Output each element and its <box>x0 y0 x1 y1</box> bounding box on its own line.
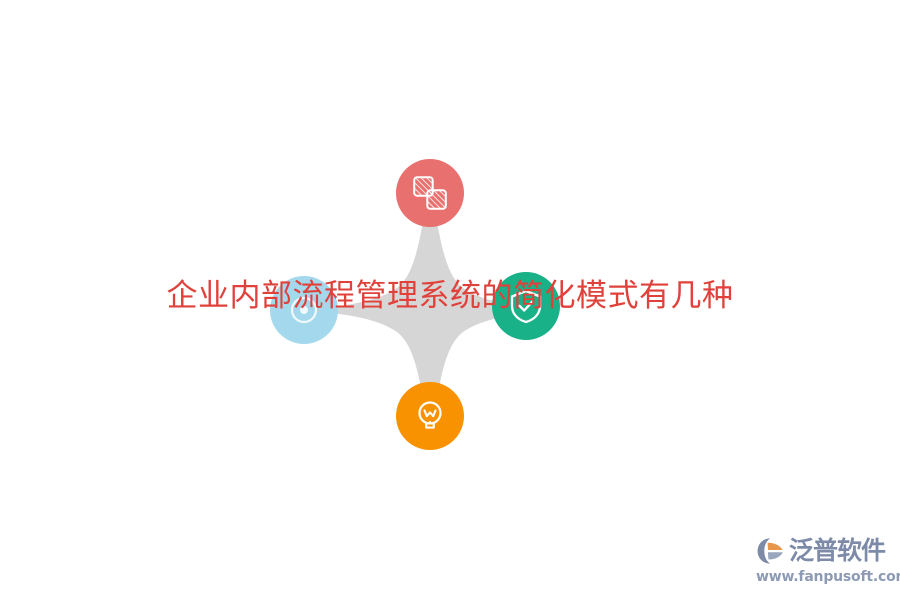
fanpu-swoosh-icon <box>756 536 786 566</box>
node-bottom-lightbulb[interactable] <box>396 382 464 450</box>
brand-url: www.fanpusoft.com <box>756 569 888 585</box>
page-canvas: 企业内部流程管理系统的简化模式有几种 泛普软件 www.fanpusoft.co… <box>0 0 900 600</box>
layers-icon <box>411 174 449 212</box>
page-title: 企业内部流程管理系统的简化模式有几种 <box>0 281 900 312</box>
brand-name: 泛普软件 <box>789 536 885 566</box>
lightbulb-icon <box>411 397 449 435</box>
node-top-layers[interactable] <box>396 159 464 227</box>
brand-logo: 泛普软件 www.fanpusoft.com <box>756 534 888 590</box>
